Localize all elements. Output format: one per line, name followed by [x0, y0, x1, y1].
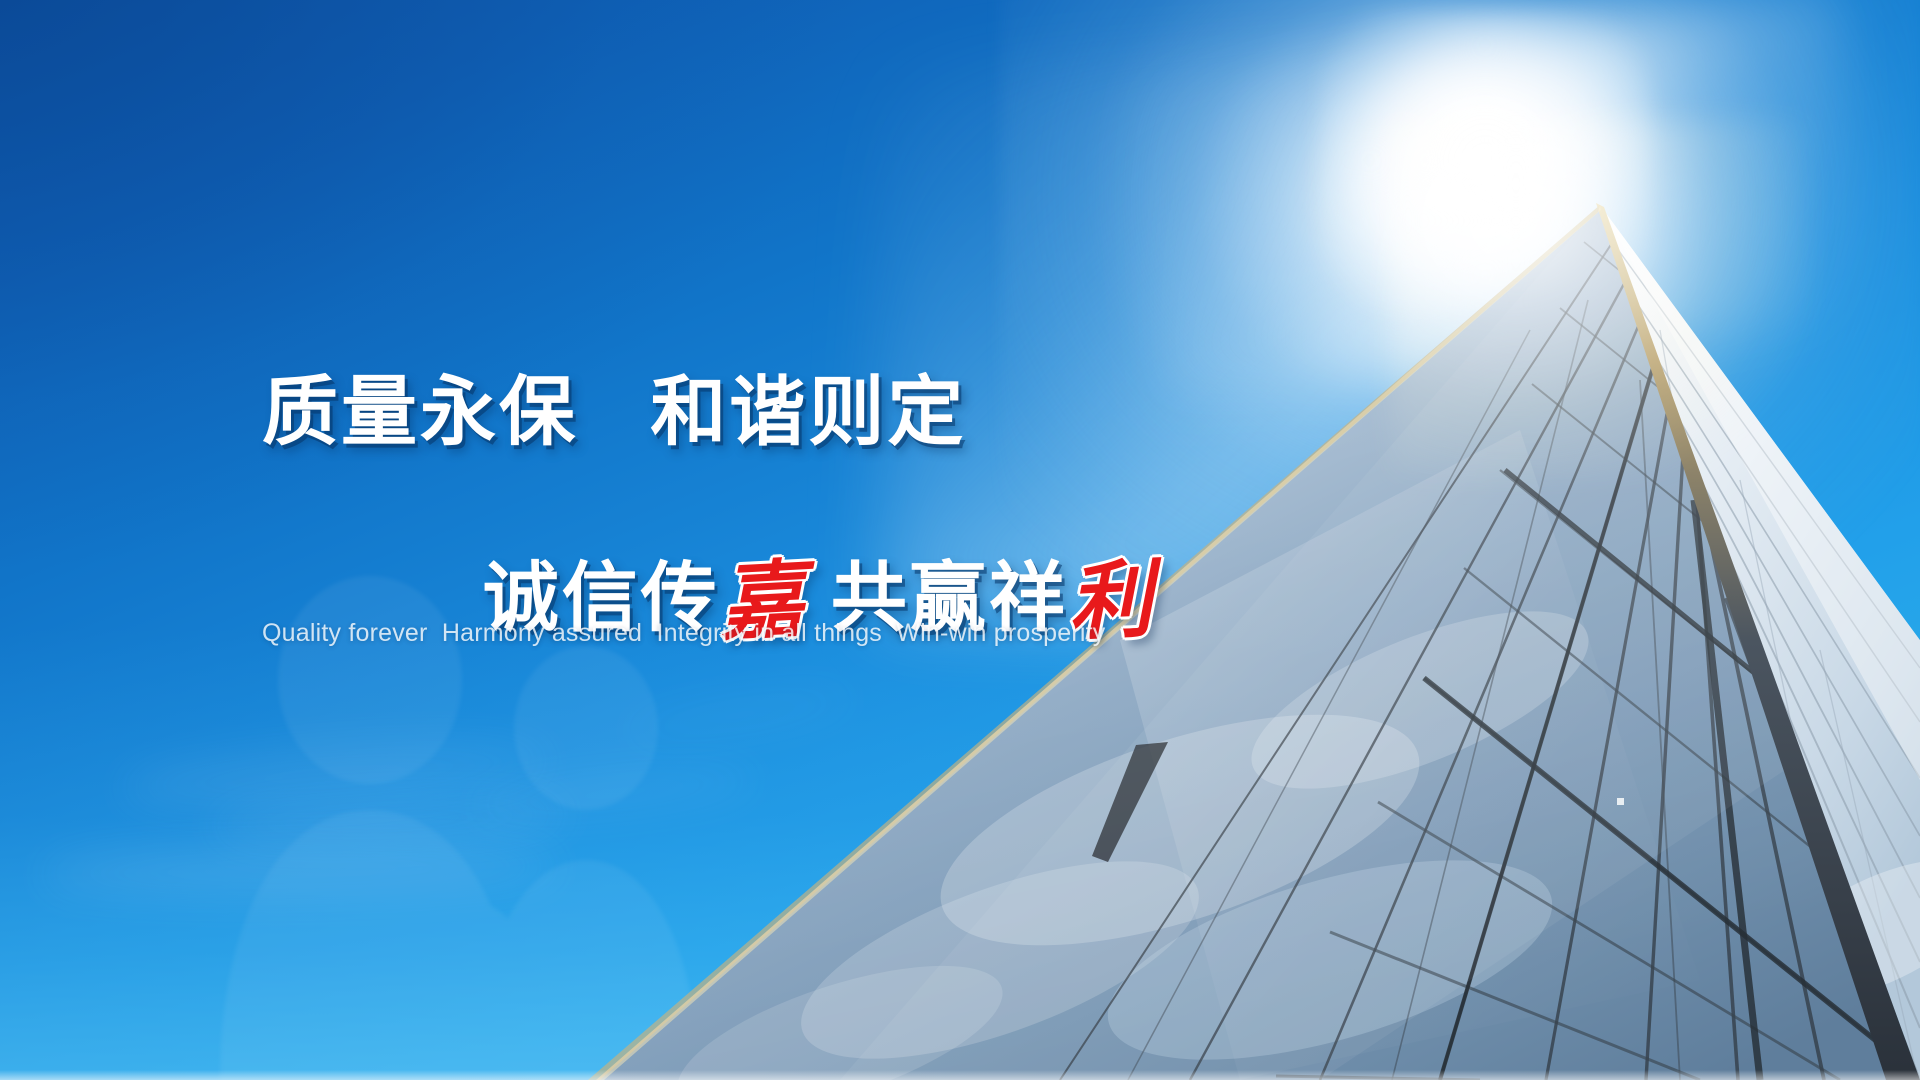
english-tagline: Quality forever Harmony assured Integrit…	[262, 619, 1106, 648]
sun-icon	[1320, 10, 1650, 310]
headline-line-2: 诚信传嘉 共赢祥利	[338, 477, 1155, 713]
hero-banner: 质量永保 和谐则定 诚信传嘉 共赢祥利 Quality forever Harm…	[0, 0, 1920, 1080]
bottom-light-band	[0, 1070, 1920, 1080]
headline-line-1: 质量永保 和谐则定	[262, 375, 966, 451]
